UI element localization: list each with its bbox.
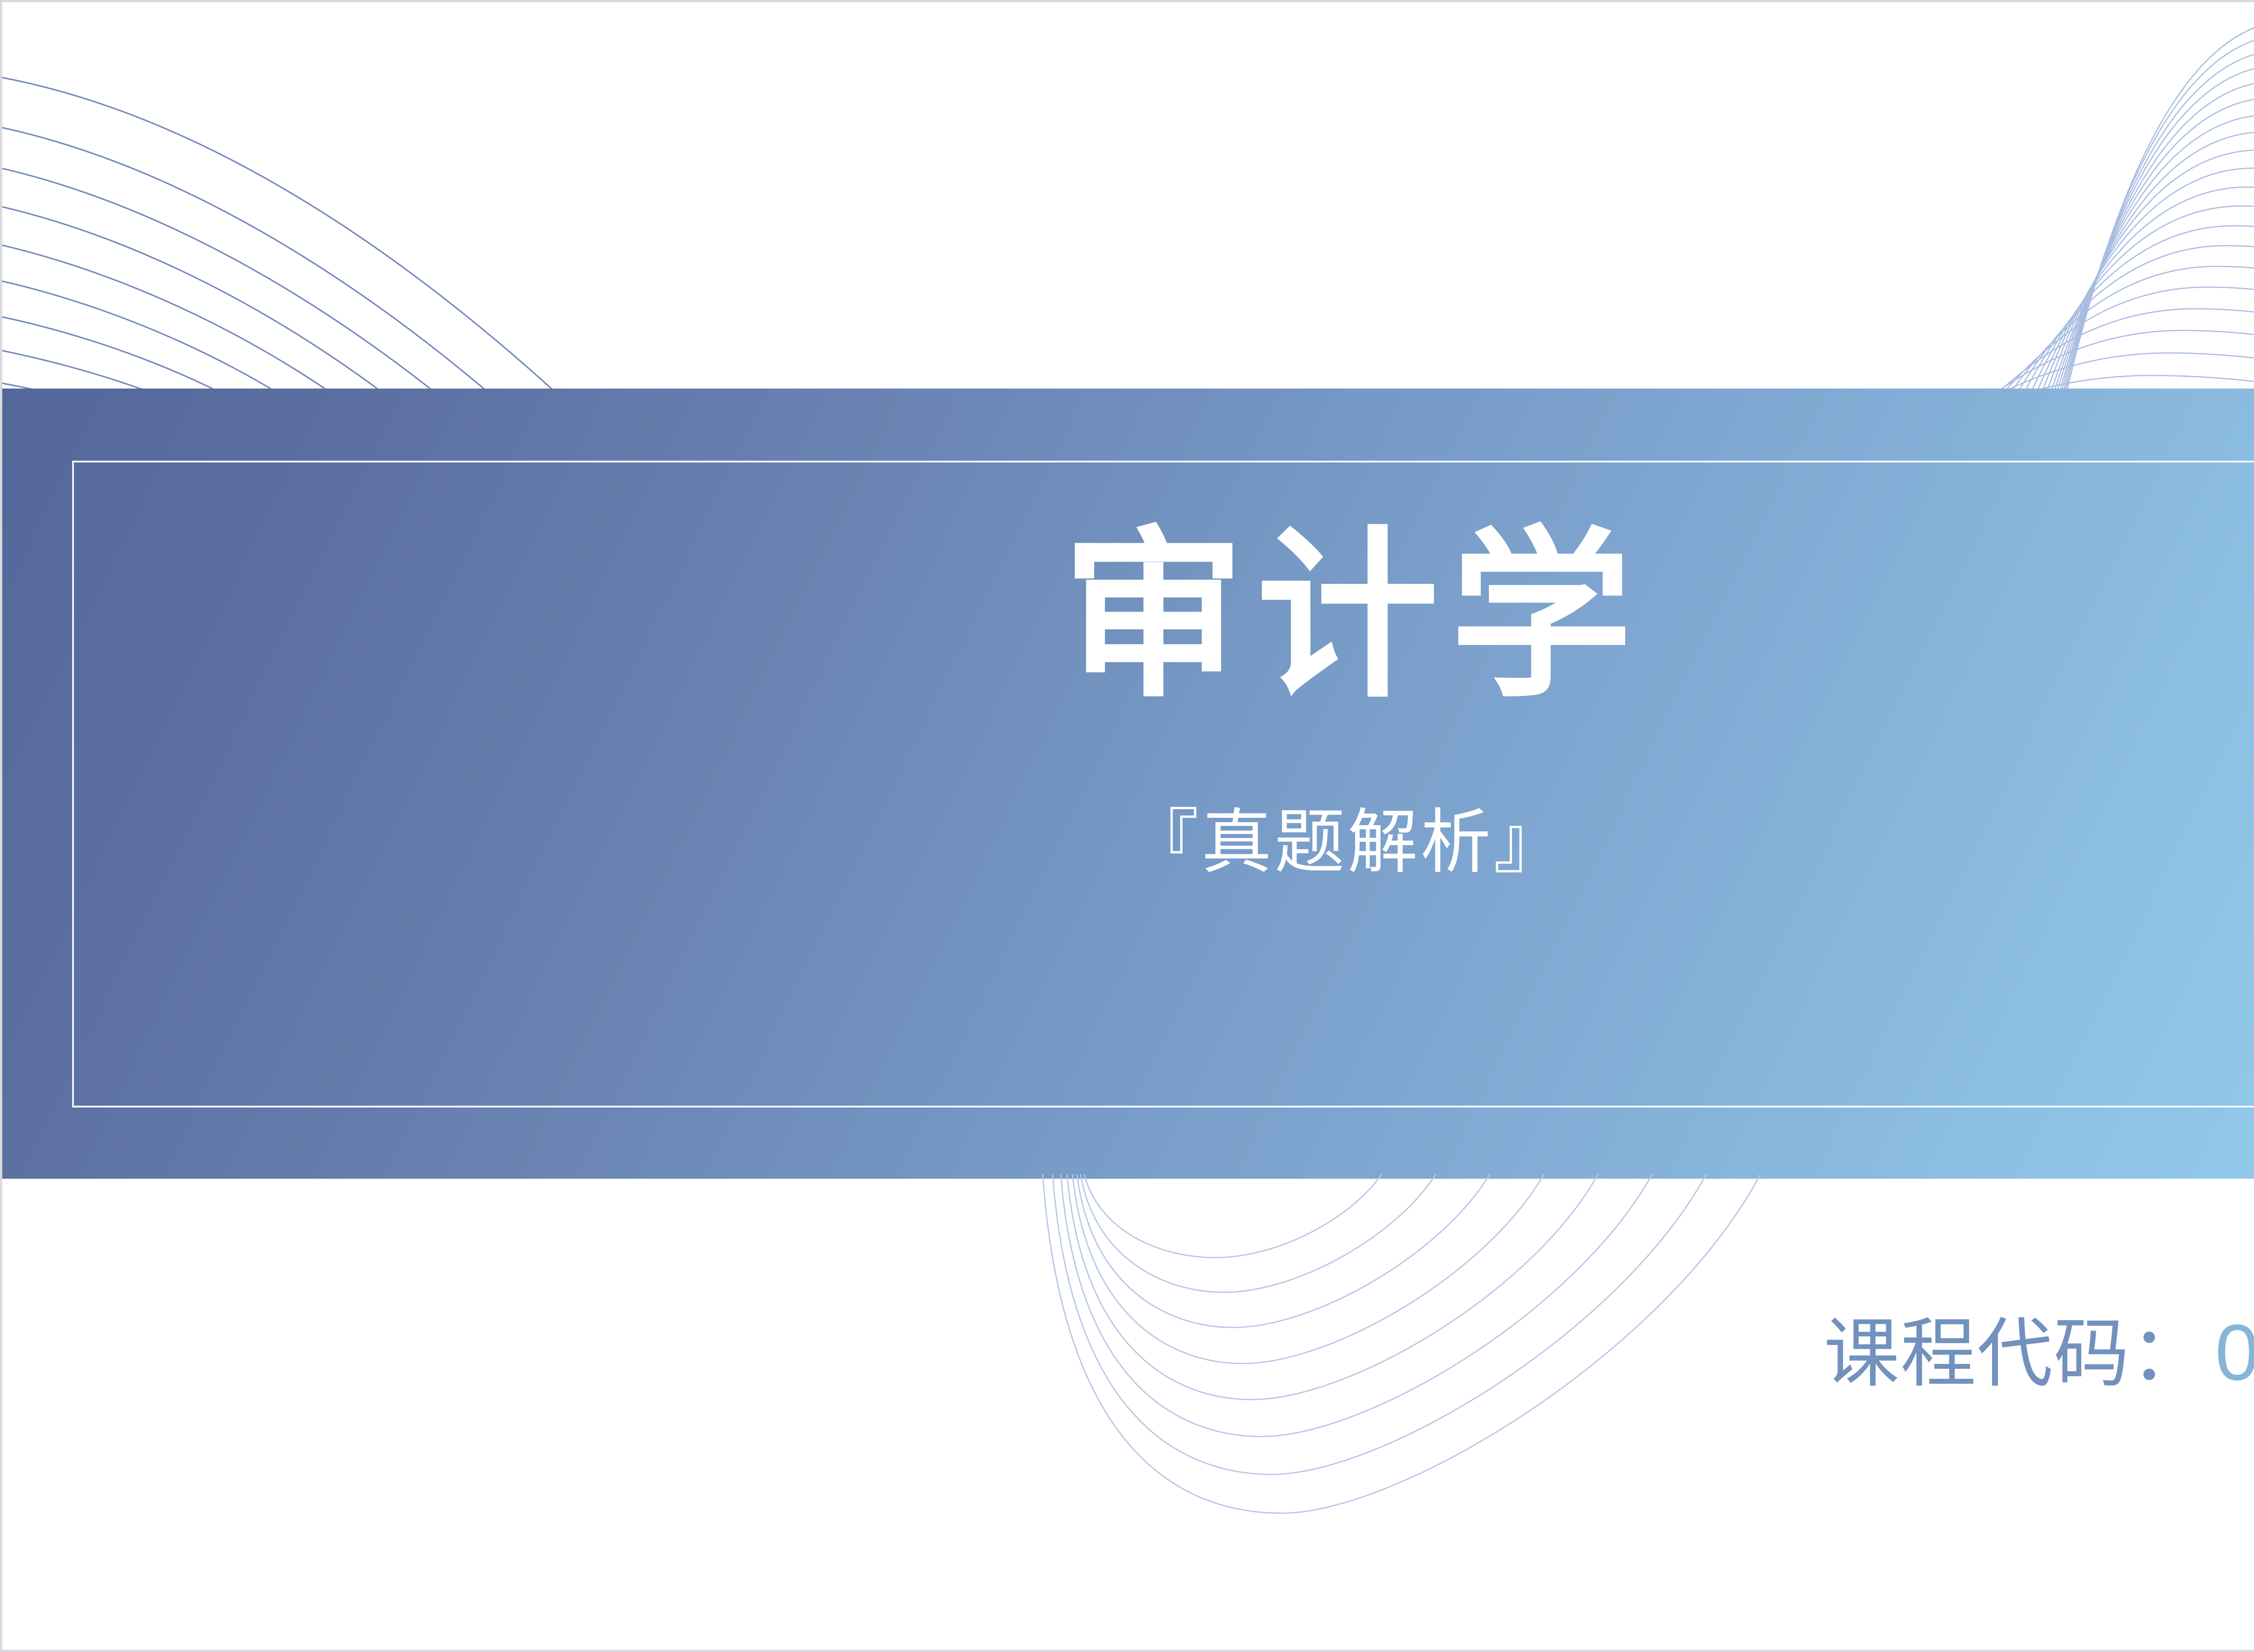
title-block: 审计学 『真题解析』	[2, 389, 2254, 1179]
wave-lines-bottom-center-icon	[904, 1174, 1896, 1580]
wave-lines-top-right-icon	[1310, 2, 2254, 453]
wave-lines-top-left-icon	[2, 2, 949, 453]
course-code-value: 00160	[2215, 1307, 2254, 1398]
course-code-label: 课程代码：	[1824, 1292, 2207, 1402]
course-code: 课程代码： 00160	[1824, 1292, 2254, 1402]
slide-canvas: 审计学 『真题解析』 课程代码： 00160	[0, 0, 2254, 1652]
page-subtitle: 『真题解析』	[1128, 804, 1567, 882]
page-title: 审计学	[1051, 524, 1644, 709]
title-banner: 审计学 『真题解析』	[2, 389, 2254, 1179]
